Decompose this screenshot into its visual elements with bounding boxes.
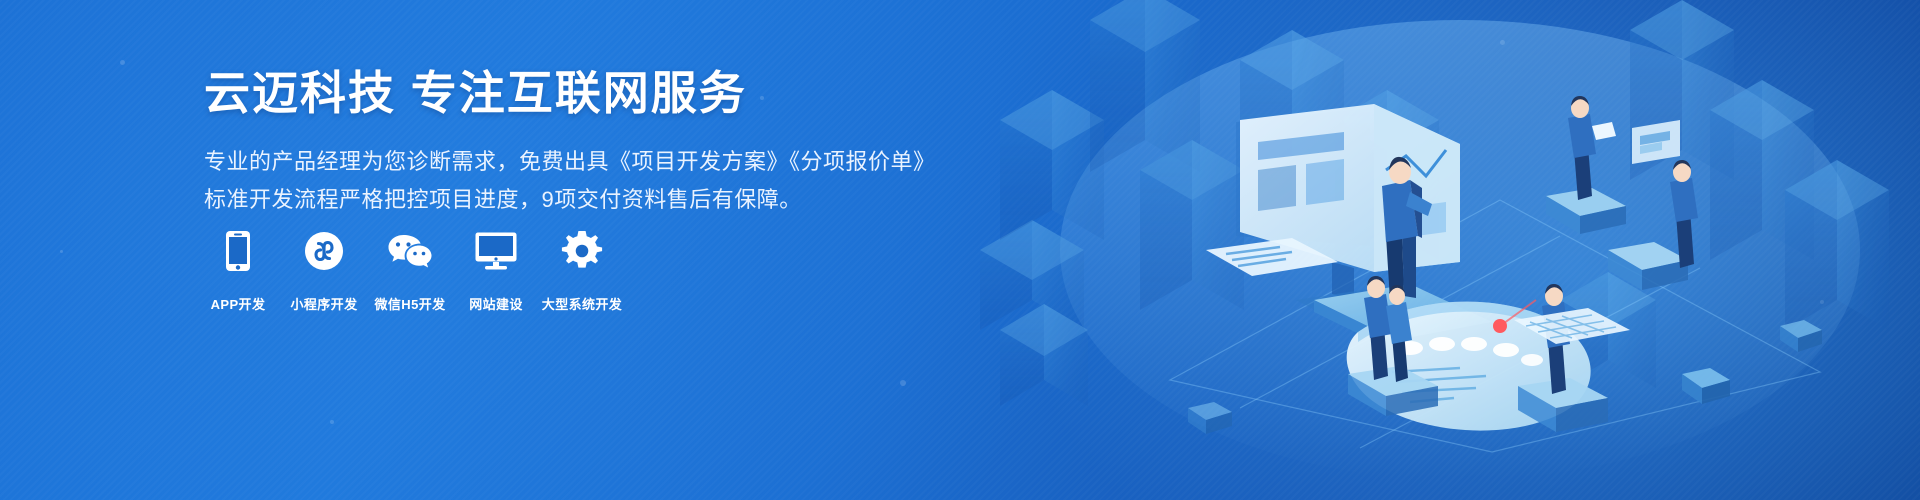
service-item-wechat[interactable]: 微信H5开发 xyxy=(374,228,446,313)
service-item-app[interactable]: APP开发 xyxy=(202,228,274,313)
service-label: 小程序开发 xyxy=(290,294,357,313)
service-label: 大型系统开发 xyxy=(542,294,622,313)
gear-icon xyxy=(561,228,603,274)
mini-program-icon xyxy=(304,228,344,274)
hero-subtitle-line-1: 专业的产品经理为您诊断需求，免费出具《项目开发方案》《分项报价单》 xyxy=(204,144,964,180)
service-label: 微信H5开发 xyxy=(374,294,445,313)
wechat-icon xyxy=(387,228,433,274)
hero-copy: 云迈科技 专注互联网服务 专业的产品经理为您诊断需求，免费出具《项目开发方案》《… xyxy=(204,66,964,218)
page-title: 云迈科技 专注互联网服务 xyxy=(204,66,964,120)
monitor-icon xyxy=(474,228,518,274)
hero-subtitle-line-2: 标准开发流程严格把控项目进度，9项交付资料售后有保障。 xyxy=(204,182,964,218)
isometric-tech-team-illustration xyxy=(940,0,1920,500)
service-list: APP开发 小程序开发 xyxy=(202,228,618,313)
mobile-phone-icon xyxy=(225,228,251,274)
service-item-website[interactable]: 网站建设 xyxy=(460,228,532,313)
hero-banner: 云迈科技 专注互联网服务 专业的产品经理为您诊断需求，免费出具《项目开发方案》《… xyxy=(0,0,1920,500)
service-label: APP开发 xyxy=(211,294,266,313)
service-item-system[interactable]: 大型系统开发 xyxy=(546,228,618,313)
service-item-miniprogram[interactable]: 小程序开发 xyxy=(288,228,360,313)
service-label: 网站建设 xyxy=(469,294,523,313)
